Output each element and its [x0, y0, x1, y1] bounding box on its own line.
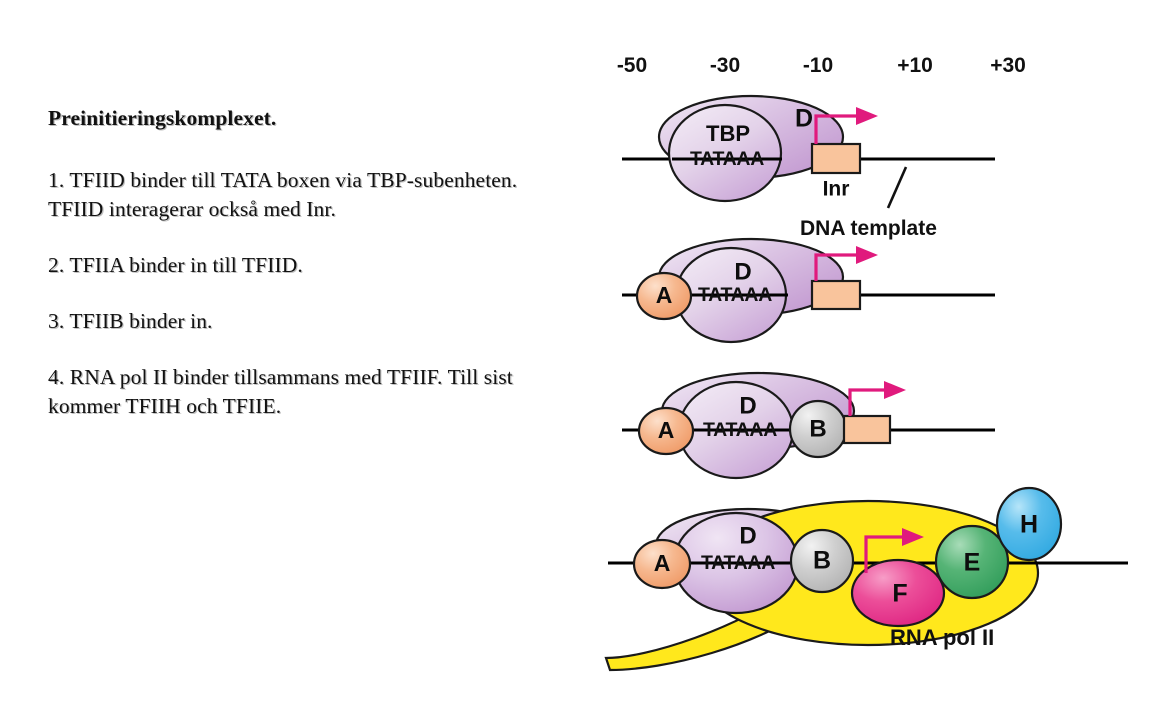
tata-box-label-4: TATAAA: [701, 552, 775, 574]
scale-label-minus10: -10: [803, 54, 833, 77]
panel-1-tfiid-binding: TBP TATAAA D Inr DNA template: [622, 96, 995, 240]
step-paragraph-4: 4. RNA pol II binder tillsammans med TFI…: [48, 363, 548, 421]
position-scale: -50 -30 -10 +10 +30: [617, 54, 1026, 77]
tfiia-label-2: A: [656, 282, 673, 308]
scale-label-minus50: -50: [617, 54, 647, 77]
tfiid-label-4: D: [739, 522, 756, 549]
tata-box-label-1: TATAAA: [690, 148, 764, 170]
tata-box-label-2: TATAAA: [698, 284, 772, 306]
tfiih-label-4: H: [1020, 511, 1038, 539]
tfiif-label-4: F: [892, 580, 907, 608]
dna-template-leader: [888, 167, 906, 208]
scale-label-plus30: +30: [990, 54, 1026, 77]
slide-page: Preinitieringskomplexet. 1. TFIID binder…: [0, 0, 1154, 724]
preinitiation-complex-diagram: -50 -30 -10 +10 +30 TBP TATAAA D: [588, 40, 1154, 690]
text-column: Preinitieringskomplexet. 1. TFIID binder…: [48, 104, 548, 448]
dna-template-label: DNA template: [800, 217, 937, 240]
tfiib-label-4: B: [813, 547, 831, 575]
rna-pol-label: RNA pol II: [890, 625, 994, 650]
step-paragraph-2: 2. TFIIA binder in till TFIID.: [48, 251, 548, 280]
panel-2-tfiia-binding: D TATAAA A: [622, 239, 995, 342]
tfiia-label-3: A: [658, 417, 675, 443]
tfiie-label-4: E: [964, 549, 981, 577]
panel-3-tfiib-binding: D TATAAA A B: [622, 373, 995, 478]
tfiid-label-2: D: [734, 258, 751, 285]
scale-label-minus30: -30: [710, 54, 740, 77]
slide-heading: Preinitieringskomplexet.: [48, 104, 548, 133]
inr-label-1: Inr: [823, 178, 850, 201]
transcription-arrow-3: [850, 381, 906, 416]
tfiia-label-4: A: [654, 550, 671, 576]
tfiid-label-3: D: [739, 392, 756, 419]
tfiib-label-3: B: [809, 415, 826, 442]
inr-box-2: [812, 281, 860, 309]
tfiid-label-1: D: [795, 105, 813, 133]
tata-box-label-3: TATAAA: [703, 419, 777, 441]
scale-label-plus10: +10: [897, 54, 933, 77]
inr-box-3: [844, 416, 890, 443]
tbp-label-1: TBP: [706, 121, 750, 146]
inr-box-1: [812, 144, 860, 173]
step-paragraph-3: 3. TFIIB binder in.: [48, 307, 548, 336]
step-paragraph-1: 1. TFIID binder till TATA boxen via TBP-…: [48, 166, 548, 224]
panel-4-holoenzyme: D TATAAA A B F E: [606, 488, 1128, 670]
